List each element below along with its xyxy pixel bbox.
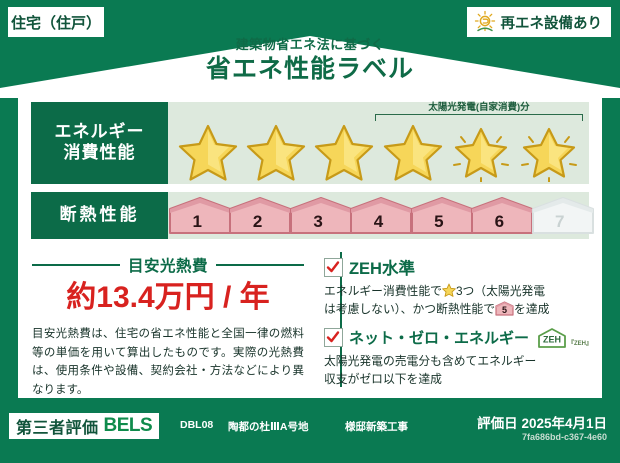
dwelling-type-tag: 住宅（住戸） <box>8 7 104 37</box>
main-panel: エネルギー 消費性能 太陽光発電(自家消費)分 <box>18 92 602 398</box>
inline-star-icon <box>442 283 456 297</box>
heading-rule-left <box>32 264 120 266</box>
insulation-performance-label-cell: 断熱性能 <box>31 192 168 239</box>
insulation-level-item: 2 <box>228 196 286 235</box>
solar-annotation-label: 太陽光発電(自家消費)分 <box>375 103 583 113</box>
footer-date-value: 2025年4月1日 <box>521 416 607 431</box>
utility-cost-heading: 目安光熱費 <box>32 254 304 276</box>
energy-label-line1: エネルギー <box>55 122 145 143</box>
footer-code: DBL08 <box>180 419 213 431</box>
zeh-logo: ZEH 『ZEH』 <box>537 327 592 349</box>
insulation-level-item: 4 <box>349 196 407 235</box>
solar-generation-annotation: 太陽光発電(自家消費)分 <box>375 103 583 121</box>
claim-zeh-text-2: 3つ（太陽光発電 <box>456 284 545 298</box>
insulation-rating-cell: 1 2 3 <box>168 192 589 239</box>
checkbox-zeh-standard <box>324 258 343 277</box>
claim-zeh-standard-title: ZEH水準 <box>349 255 415 279</box>
star-icon <box>312 120 376 182</box>
svg-text:ZEH: ZEH <box>543 334 561 344</box>
claim-zeh-text-4: を達成 <box>514 302 549 316</box>
star-item <box>381 120 445 182</box>
bels-jp-label: 第三者評価 <box>16 414 99 438</box>
insulation-level-number: 1 <box>192 213 201 235</box>
insulation-level-item-inactive: 7 <box>531 196 589 235</box>
insulation-level-number: 6 <box>495 213 504 235</box>
footer-evaluation-date: 評価日 2025年4月1日 <box>477 412 607 432</box>
energy-performance-label-cell: エネルギー 消費性能 <box>31 102 168 184</box>
insulation-label: 断熱性能 <box>60 205 140 226</box>
insulation-level-number: 7 <box>555 213 564 235</box>
footer-uuid: 7fa686bd-c367-4e60 <box>522 432 607 442</box>
claim-net-zero-energy: ネット・ゼロ・エネルギー ZEH 『ZEH』 太陽光発電の売電分も含めてエネルギ… <box>324 327 592 389</box>
check-icon <box>326 260 340 274</box>
insulation-level-number: 4 <box>374 213 383 235</box>
star-icon <box>517 120 581 182</box>
utility-cost-note: 目安光熱費は、住宅の省エネ性能と全国一律の燃料等の単価を用いて算出したものです。… <box>32 325 304 400</box>
checkbox-net-zero <box>324 328 343 347</box>
sun-icon <box>473 10 497 34</box>
star-item-solar <box>517 120 581 182</box>
claim-zeh-standard-body: エネルギー消費性能で3つ（太陽光発電 は考慮しない）、かつ断熱性能で5を達成 <box>324 282 592 319</box>
energy-performance-row: エネルギー 消費性能 太陽光発電(自家消費)分 <box>31 102 589 184</box>
lower-section: 目安光熱費 約13.4万円 / 年 目安光熱費は、住宅の省エネ性能と全国一律の燃… <box>18 247 602 397</box>
utility-cost-value: 約13.4万円 / 年 <box>32 281 304 314</box>
insulation-level-number: 3 <box>313 213 322 235</box>
bels-en-label: BELS <box>104 415 153 437</box>
star-icon <box>381 120 445 182</box>
star-item <box>244 120 308 182</box>
claim-net-zero-title: ネット・ゼロ・エネルギー <box>349 327 529 348</box>
energy-performance-label: 住宅（住戸） 再エネ設備あり 建築物省エネ法に基づく 省エネ性能ラベル <box>0 0 620 463</box>
star-item <box>176 120 240 182</box>
footer-date-label: 評価日 <box>477 416 518 431</box>
footer-bar: 第三者評価 BELS DBL08 陶都の杜ⅢA号地 様邸新築工事 評価日 202… <box>0 404 620 463</box>
bels-certification-tag: 第三者評価 BELS <box>9 413 159 439</box>
claim-zeh-standard-head: ZEH水準 <box>324 255 592 279</box>
energy-rating-cell: 太陽光発電(自家消費)分 <box>168 102 589 184</box>
insulation-level-number: 5 <box>434 213 443 235</box>
zeh-house-logo-icon: ZEH <box>537 327 567 349</box>
inline-house-badge-icon: 5 <box>495 301 514 316</box>
energy-star-rating <box>168 120 589 182</box>
utility-cost-heading-label: 目安光熱費 <box>128 254 208 276</box>
insulation-performance-row: 断熱性能 1 2 <box>31 192 589 239</box>
insulation-level-item: 1 <box>168 196 226 235</box>
claims-section: ZEH水準 エネルギー消費性能で3つ（太陽光発電 は考慮しない）、かつ断熱性能で… <box>318 247 602 397</box>
utility-cost-section: 目安光熱費 約13.4万円 / 年 目安光熱費は、住宅の省エネ性能と全国一律の燃… <box>18 247 318 397</box>
zeh-logo-subtext: 『ZEH』 <box>568 338 592 349</box>
star-icon <box>244 120 308 182</box>
claim-zeh-text-3: は考慮しない）、かつ断熱性能で <box>324 302 495 316</box>
claim-zeh-text-1: エネルギー消費性能で <box>324 284 442 298</box>
roof-shape <box>0 36 620 98</box>
footer-owner-name: 様邸新築工事 <box>345 419 408 434</box>
claim-net-zero-text-2: 収支がゼロ以下を達成 <box>324 372 442 386</box>
claim-net-zero-head: ネット・ゼロ・エネルギー ZEH 『ZEH』 <box>324 327 592 349</box>
inline-house-number: 5 <box>495 306 514 315</box>
insulation-level-item: 5 <box>410 196 468 235</box>
claim-net-zero-body: 太陽光発電の売電分も含めてエネルギー 収支がゼロ以下を達成 <box>324 352 592 389</box>
renewable-badge-label: 再エネ設備あり <box>501 12 603 33</box>
insulation-level-number: 2 <box>253 213 262 235</box>
star-icon <box>449 120 513 182</box>
star-item-solar <box>449 120 513 182</box>
claim-net-zero-text-1: 太陽光発電の売電分も含めてエネルギー <box>324 354 536 368</box>
insulation-level-item: 6 <box>470 196 528 235</box>
dwelling-type-label: 住宅（住戸） <box>11 12 101 33</box>
star-item <box>312 120 376 182</box>
check-icon <box>326 330 340 344</box>
claim-zeh-standard: ZEH水準 エネルギー消費性能で3つ（太陽光発電 は考慮しない）、かつ断熱性能で… <box>324 255 592 319</box>
star-icon <box>176 120 240 182</box>
insulation-level-item: 3 <box>289 196 347 235</box>
energy-label-line2: 消費性能 <box>64 143 136 164</box>
footer-project-name: 陶都の杜ⅢA号地 <box>228 419 309 434</box>
heading-rule-right <box>216 264 304 266</box>
renewable-equipment-badge: 再エネ設備あり <box>467 7 612 37</box>
insulation-level-scale: 1 2 3 <box>168 192 589 239</box>
